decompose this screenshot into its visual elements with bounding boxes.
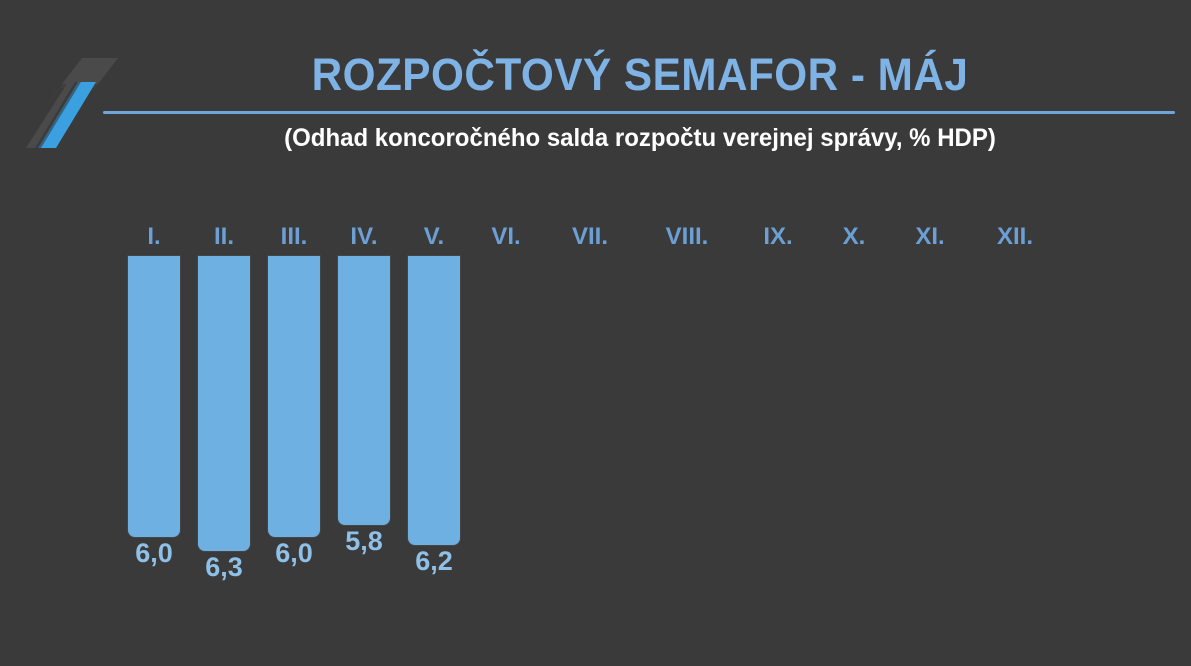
bar-value-4: 5,8: [334, 526, 394, 556]
month-label-5: V.: [408, 224, 460, 250]
bar-value-2: 6,3: [194, 552, 254, 582]
bar-2: [198, 256, 250, 551]
month-label-11: XI.: [902, 224, 958, 250]
bar-value-3: 6,0: [264, 538, 324, 568]
month-label-9: IX.: [752, 224, 804, 250]
slide-canvas: ROZPOČTOVÝ SEMAFOR - MÁJ (Odhad koncoroč…: [0, 0, 1191, 666]
month-label-12: XII.: [984, 224, 1046, 250]
month-label-10: X.: [828, 224, 880, 250]
bar-value-5: 6,2: [404, 546, 464, 576]
bar-1: [128, 256, 180, 537]
month-label-3: III.: [268, 224, 320, 250]
month-label-4: IV.: [338, 224, 390, 250]
bar-4: [338, 256, 390, 525]
month-label-7: VII.: [564, 224, 616, 250]
month-label-2: II.: [198, 224, 250, 250]
bar-value-1: 6,0: [124, 538, 184, 568]
bar-3: [268, 256, 320, 537]
month-label-1: I.: [128, 224, 180, 250]
budget-semaphore-bar-chart: I.6,0II.6,3III.6,0IV.5,8V.6,2VI.VII.VIII…: [0, 0, 1191, 666]
month-label-8: VIII.: [656, 224, 718, 250]
bar-5: [408, 256, 460, 545]
month-label-6: VI.: [480, 224, 532, 250]
